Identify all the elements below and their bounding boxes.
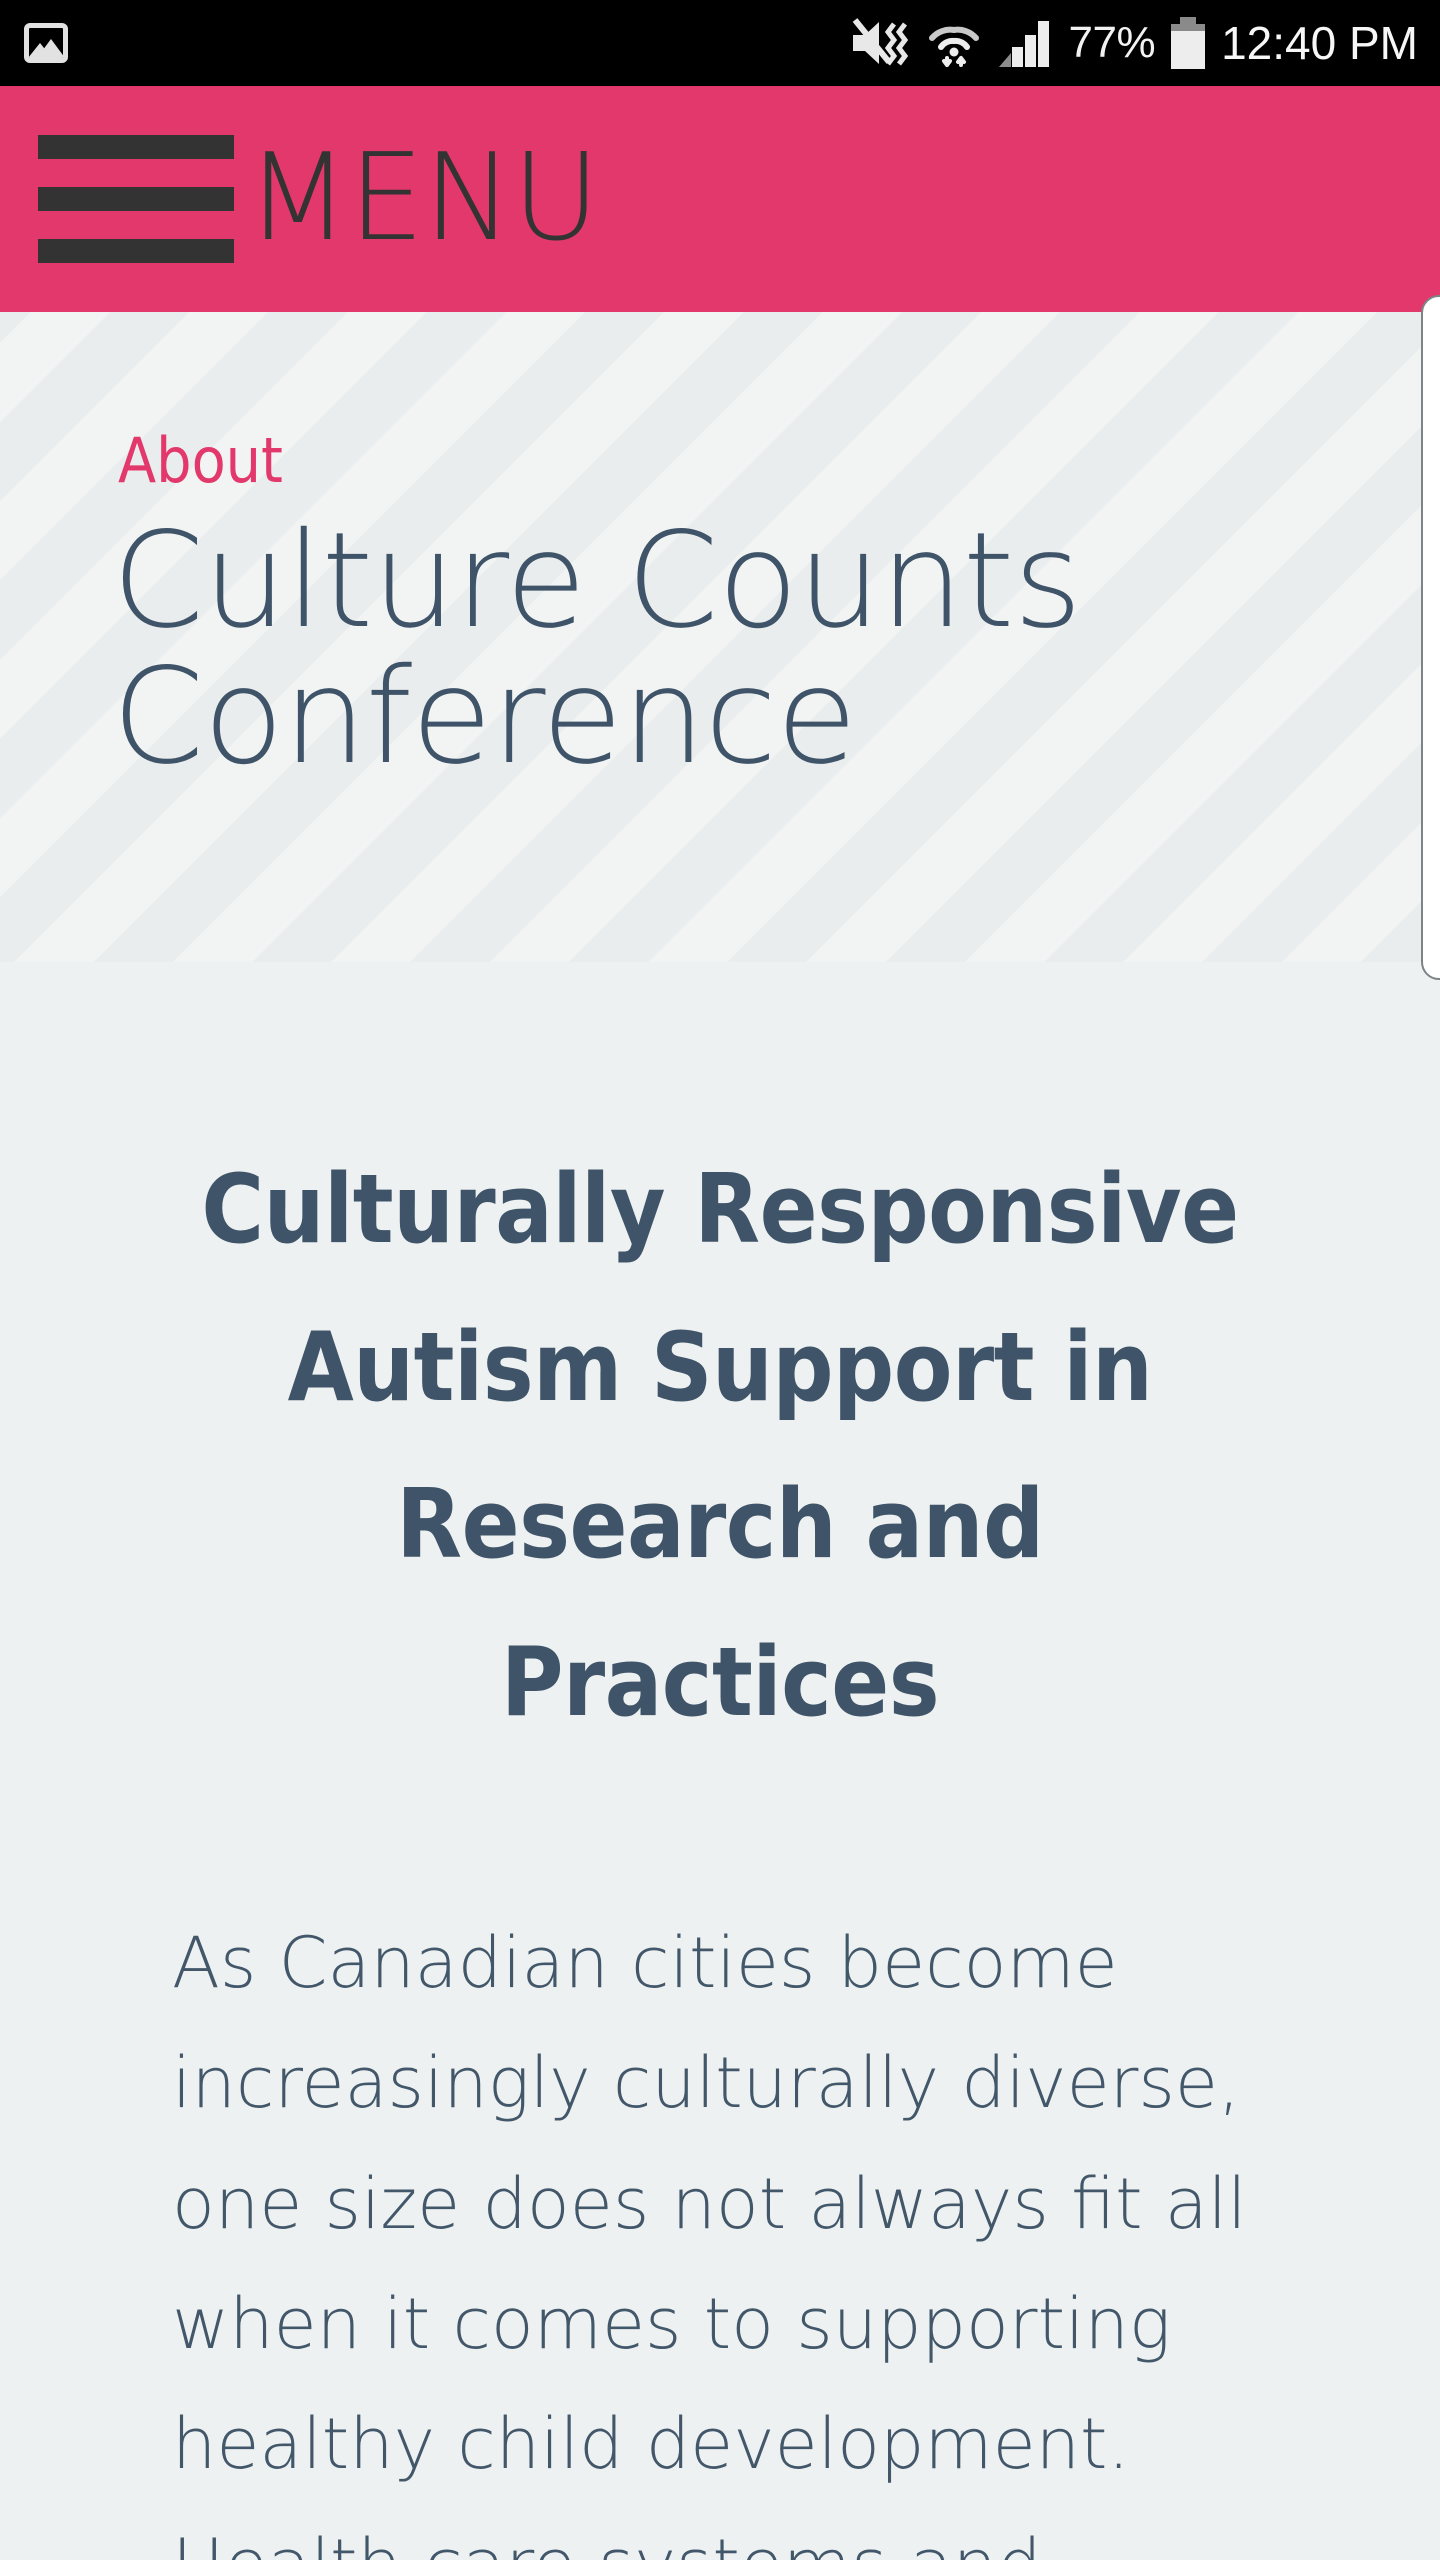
hamburger-bar-3: [38, 239, 234, 263]
status-bar-left: [24, 23, 68, 63]
mute-vibrate-icon: [849, 16, 911, 70]
battery-icon: [1171, 17, 1205, 69]
phone-screen: 77% 12:40 PM MENU About Culture Counts C…: [0, 0, 1440, 2560]
main-content: Culturally Responsive Autism Support in …: [0, 962, 1440, 2560]
status-bar-right: 77% 12:40 PM: [849, 16, 1418, 70]
clock-label: 12:40 PM: [1221, 20, 1418, 66]
body-paragraph: As Canadian cities become increasingly c…: [172, 1903, 1272, 2560]
menu-button[interactable]: MENU: [246, 139, 599, 259]
battery-percent-label: 77%: [1069, 21, 1156, 65]
hero-banner: About Culture Counts Conference: [0, 312, 1440, 962]
offcanvas-panel-edge[interactable]: [1421, 295, 1440, 980]
page-title: Culture Counts Conference: [112, 514, 1212, 786]
wifi-icon: [927, 16, 981, 70]
hamburger-menu-icon[interactable]: [38, 135, 238, 263]
hamburger-bar-1: [38, 135, 234, 159]
breadcrumb-about: About: [118, 430, 1440, 492]
status-bar: 77% 12:40 PM: [0, 0, 1440, 86]
image-icon: [24, 23, 68, 63]
navbar: MENU: [0, 86, 1440, 312]
hamburger-bar-2: [38, 187, 234, 211]
cellular-signal-icon: [997, 17, 1053, 69]
section-heading: Culturally Responsive Autism Support in …: [168, 1132, 1272, 1763]
